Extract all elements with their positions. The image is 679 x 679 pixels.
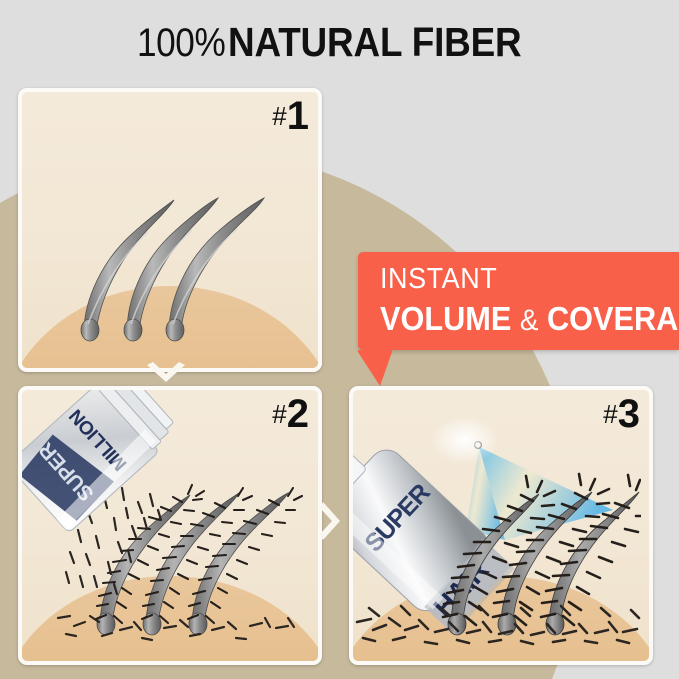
title-percent: 100% — [137, 23, 225, 63]
banner-line-2: VOLUME & COVERAGE — [380, 302, 679, 336]
banner-volume: VOLUME — [380, 300, 511, 337]
chevron-right-icon — [318, 498, 346, 544]
step-panel-3[interactable]: SUPER HAIR — [349, 386, 653, 665]
banner-coverage: COVERAGE — [547, 300, 679, 337]
banner-text: INSTANT VOLUME & COVERAGE — [380, 265, 679, 336]
panel-digit: 1 — [287, 94, 308, 138]
panel-hash: # — [272, 399, 286, 429]
callout-banner: INSTANT VOLUME & COVERAGE — [358, 252, 679, 350]
hair-strand — [166, 198, 264, 341]
banner-ampersand: & — [520, 304, 539, 337]
title-main: NATURAL FIBER — [228, 22, 522, 63]
panel-hash: # — [272, 101, 286, 131]
panel-number-2: #2 — [272, 394, 308, 434]
step-panel-2[interactable]: SUPER MILLION #2 — [18, 386, 322, 665]
fiber-application-illustration-step2: SUPER MILLION — [22, 390, 310, 653]
panel-number-3: #3 — [603, 394, 639, 434]
poster-canvas: 100%NATURAL FIBER — [0, 0, 679, 679]
spray-finish-illustration-step3: SUPER HAIR — [353, 390, 641, 653]
chevron-down-icon — [143, 360, 189, 388]
hairs-illustration-step1 — [22, 92, 310, 360]
page-title: 100%NATURAL FIBER — [0, 22, 679, 63]
panel-hash: # — [603, 399, 617, 429]
panel-digit: 2 — [287, 392, 308, 436]
panel-digit: 3 — [618, 392, 639, 436]
panel-number-1: #1 — [272, 96, 308, 136]
banner-tail — [358, 350, 392, 386]
banner-line-1: INSTANT — [380, 265, 679, 294]
step-panel-1[interactable]: #1 — [18, 88, 322, 372]
loose-fibers-on-skin — [58, 616, 294, 640]
